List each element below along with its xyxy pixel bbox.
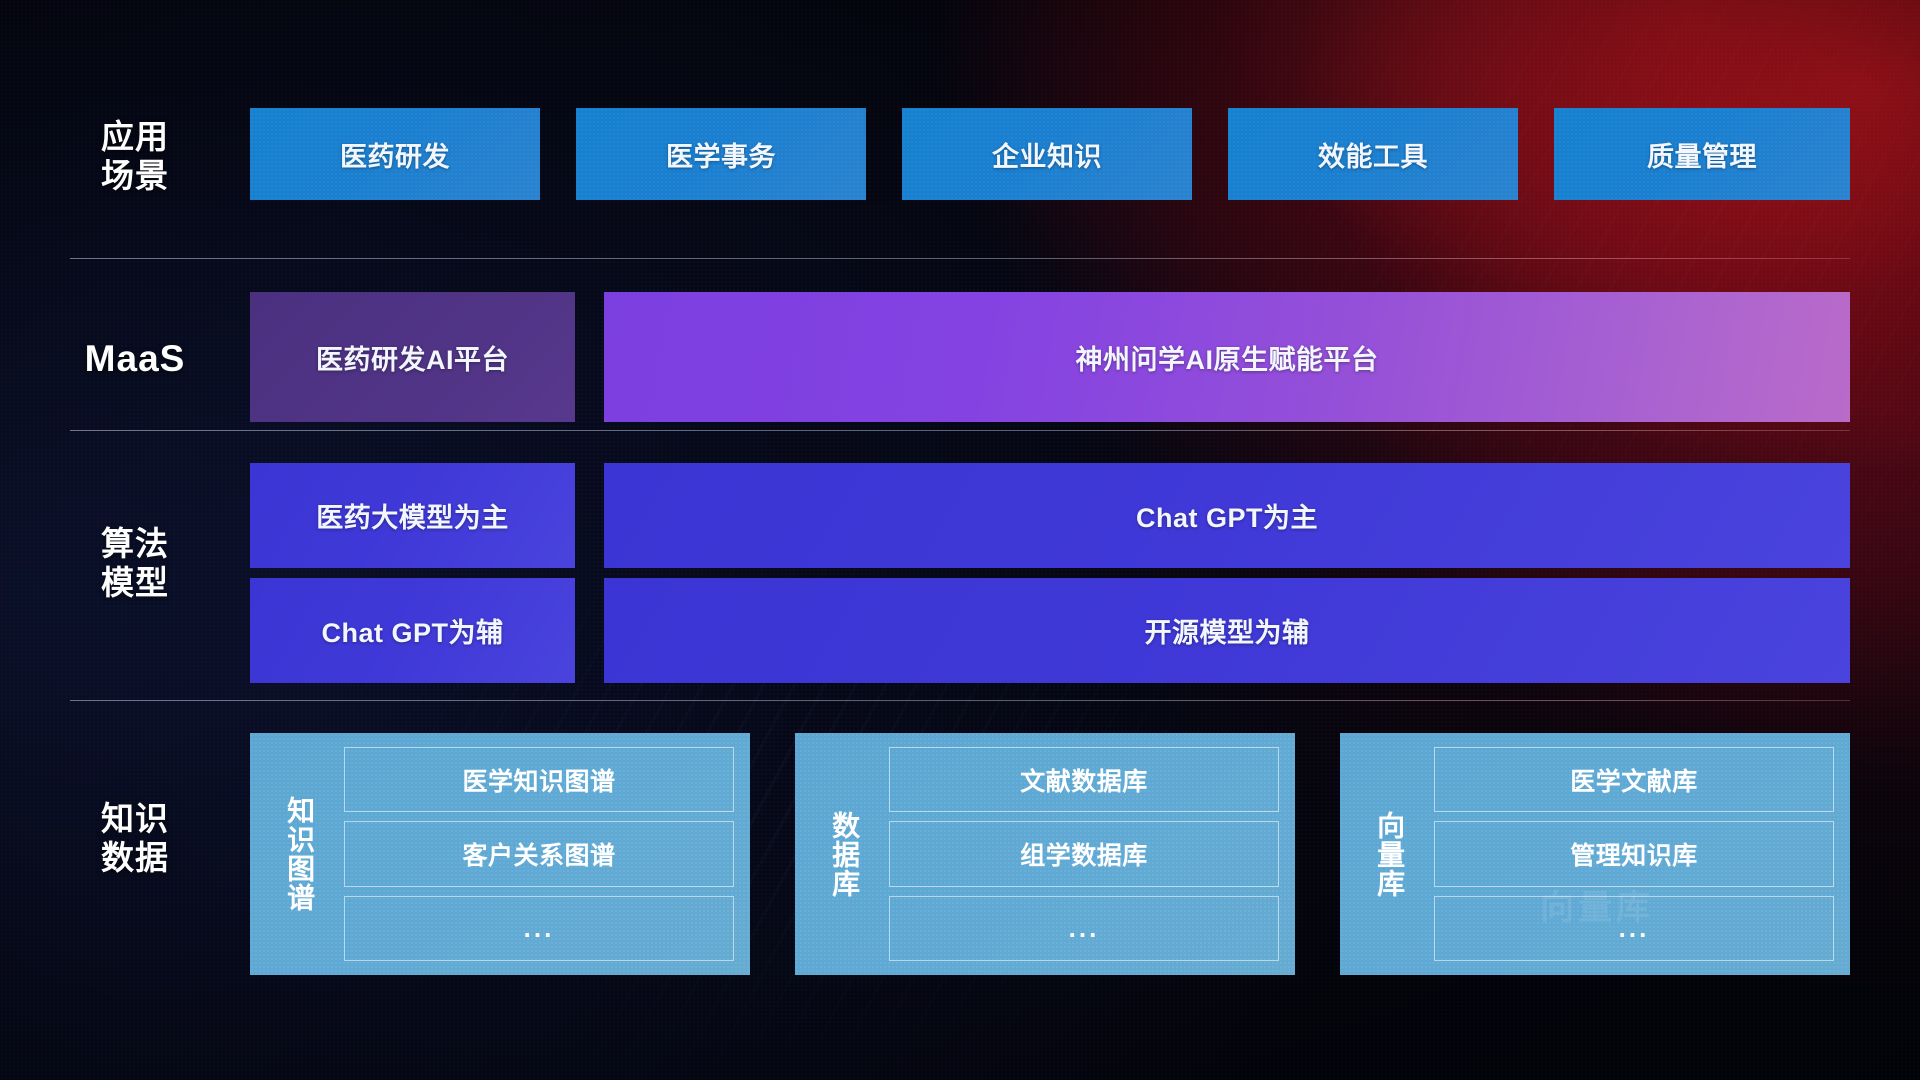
app-scenario-label-4: 效能工具 — [1318, 135, 1428, 174]
algorithm-label-right-secondary: 开源模型为辅 — [1145, 611, 1310, 650]
knowledge-block-vector-store[interactable]: 向量库 医学文献库 管理知识库 ... — [1340, 733, 1850, 975]
knowledge-item-1-2[interactable]: 客户关系图谱 — [344, 821, 734, 886]
knowledge-item-2-3[interactable]: ... — [889, 896, 1279, 961]
divider-algorithm-knowledge — [70, 700, 1850, 701]
algorithm-label-left-primary: 医药大模型为主 — [316, 496, 509, 535]
knowledge-item-label-1-1: 医学知识图谱 — [462, 762, 615, 798]
knowledge-item-1-3[interactable]: ... — [344, 896, 734, 961]
app-scenario-box-3[interactable]: 企业知识 — [902, 108, 1192, 200]
row-label-maas: MaaS — [70, 337, 200, 381]
knowledge-item-list-2: 文献数据库 组学数据库 ... — [889, 747, 1279, 961]
app-scenario-label-5: 质量管理 — [1647, 135, 1757, 174]
knowledge-item-label-1-3: ... — [524, 913, 555, 944]
row-label-algorithm: 算法 模型 — [70, 525, 200, 603]
knowledge-item-3-2[interactable]: 管理知识库 — [1434, 821, 1834, 886]
knowledge-item-list-1: 医学知识图谱 客户关系图谱 ... — [344, 747, 734, 961]
slide-canvas: 应用 场景 医药研发 医学事务 企业知识 效能工具 质量管理 MaaS 医药研发… — [0, 0, 1920, 1080]
knowledge-item-label-2-3: ... — [1069, 913, 1100, 944]
knowledge-item-1-1[interactable]: 医学知识图谱 — [344, 747, 734, 812]
knowledge-item-label-3-1: 医学文献库 — [1570, 762, 1698, 798]
knowledge-block-title-1: 知识图谱 — [266, 747, 332, 961]
app-scenario-box-5[interactable]: 质量管理 — [1554, 108, 1850, 200]
knowledge-item-3-1[interactable]: 医学文献库 — [1434, 747, 1834, 812]
knowledge-block-title-3: 向量库 — [1356, 747, 1422, 961]
knowledge-block-title-2: 数据库 — [811, 747, 877, 961]
maas-platform-label-right: 神州问学AI原生赋能平台 — [1076, 338, 1379, 377]
divider-application-maas — [70, 258, 1850, 259]
knowledge-item-3-3[interactable]: ... — [1434, 896, 1834, 961]
row-label-application: 应用 场景 — [70, 118, 200, 196]
maas-platform-box-right[interactable]: 神州问学AI原生赋能平台 — [604, 292, 1850, 422]
algorithm-label-left-secondary: Chat GPT为辅 — [321, 611, 503, 650]
app-scenario-label-2: 医学事务 — [666, 135, 776, 174]
algorithm-box-left-secondary[interactable]: Chat GPT为辅 — [250, 578, 575, 683]
knowledge-item-label-3-3: ... — [1619, 913, 1650, 944]
knowledge-item-list-3: 医学文献库 管理知识库 ... — [1434, 747, 1834, 961]
maas-platform-label-left: 医药研发AI平台 — [316, 338, 509, 377]
architecture-diagram: 应用 场景 医药研发 医学事务 企业知识 效能工具 质量管理 MaaS 医药研发… — [0, 0, 1920, 1080]
algorithm-label-right-primary: Chat GPT为主 — [1136, 496, 1318, 535]
knowledge-block-database[interactable]: 数据库 文献数据库 组学数据库 ... — [795, 733, 1295, 975]
app-scenario-box-2[interactable]: 医学事务 — [576, 108, 866, 200]
knowledge-item-label-2-2: 组学数据库 — [1020, 836, 1148, 872]
row-label-knowledge: 知识 数据 — [70, 800, 200, 878]
maas-platform-box-left[interactable]: 医药研发AI平台 — [250, 292, 575, 422]
knowledge-item-2-2[interactable]: 组学数据库 — [889, 821, 1279, 886]
algorithm-box-right-primary[interactable]: Chat GPT为主 — [604, 463, 1850, 568]
app-scenario-label-1: 医药研发 — [340, 135, 450, 174]
divider-maas-algorithm — [70, 430, 1850, 431]
knowledge-item-label-2-1: 文献数据库 — [1020, 762, 1148, 798]
algorithm-box-left-primary[interactable]: 医药大模型为主 — [250, 463, 575, 568]
app-scenario-box-1[interactable]: 医药研发 — [250, 108, 540, 200]
algorithm-box-right-secondary[interactable]: 开源模型为辅 — [604, 578, 1850, 683]
knowledge-item-label-3-2: 管理知识库 — [1570, 836, 1698, 872]
app-scenario-box-4[interactable]: 效能工具 — [1228, 108, 1518, 200]
knowledge-block-knowledge-graph[interactable]: 知识图谱 医学知识图谱 客户关系图谱 ... — [250, 733, 750, 975]
knowledge-item-2-1[interactable]: 文献数据库 — [889, 747, 1279, 812]
knowledge-item-label-1-2: 客户关系图谱 — [462, 836, 615, 872]
app-scenario-label-3: 企业知识 — [992, 135, 1102, 174]
